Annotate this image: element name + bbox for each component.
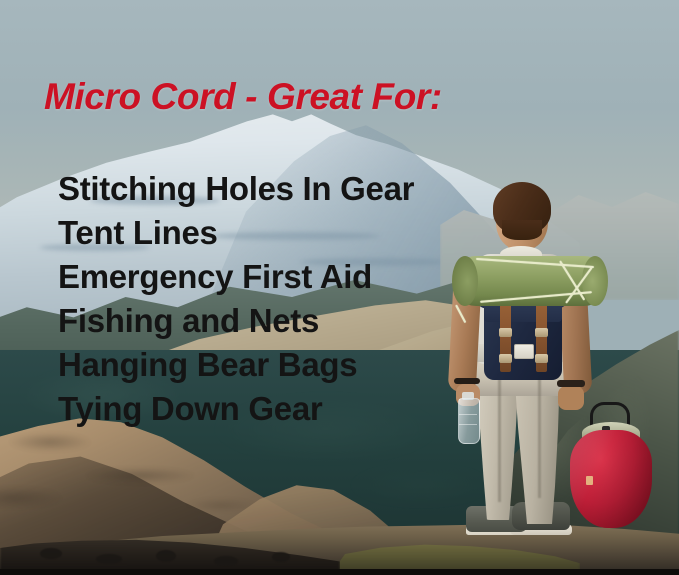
list-item: Stitching Holes In Gear bbox=[58, 167, 414, 211]
stuff-sack-tag bbox=[586, 476, 593, 485]
hair-nape bbox=[502, 220, 542, 240]
pants-seam bbox=[498, 372, 501, 502]
pebble bbox=[96, 554, 122, 564]
right-wristband bbox=[557, 380, 585, 387]
uses-list: Stitching Holes In Gear Tent Lines Emerg… bbox=[58, 167, 414, 431]
list-item: Tent Lines bbox=[58, 211, 414, 255]
pebble bbox=[40, 548, 62, 559]
water-bottle bbox=[458, 398, 480, 444]
strap-buckle bbox=[535, 354, 548, 363]
hiker-figure bbox=[440, 176, 679, 575]
sleeping-mat-end-left bbox=[452, 256, 478, 306]
backpack-logo-patch bbox=[514, 344, 534, 359]
pebble bbox=[156, 550, 176, 562]
sleeping-mat-end-right bbox=[582, 256, 608, 306]
pebble bbox=[272, 552, 290, 562]
list-item: Emergency First Aid bbox=[58, 255, 414, 299]
bottle-rib bbox=[459, 424, 477, 425]
list-item: Tying Down Gear bbox=[58, 387, 414, 431]
left-wristband bbox=[454, 378, 480, 384]
list-item: Hanging Bear Bags bbox=[58, 343, 414, 387]
list-item: Fishing and Nets bbox=[58, 299, 414, 343]
strap-buckle bbox=[499, 328, 512, 337]
strap-buckle bbox=[535, 328, 548, 337]
headline-text: Micro Cord - Great For: bbox=[44, 76, 442, 118]
pants-seam bbox=[538, 372, 541, 498]
right-hand bbox=[558, 386, 584, 410]
bottle-rib bbox=[459, 414, 477, 415]
strap-buckle bbox=[499, 354, 512, 363]
pebble bbox=[214, 556, 238, 566]
product-marketing-image: Micro Cord - Great For: Stitching Holes … bbox=[0, 0, 679, 575]
stuff-sack-shading bbox=[570, 430, 652, 528]
